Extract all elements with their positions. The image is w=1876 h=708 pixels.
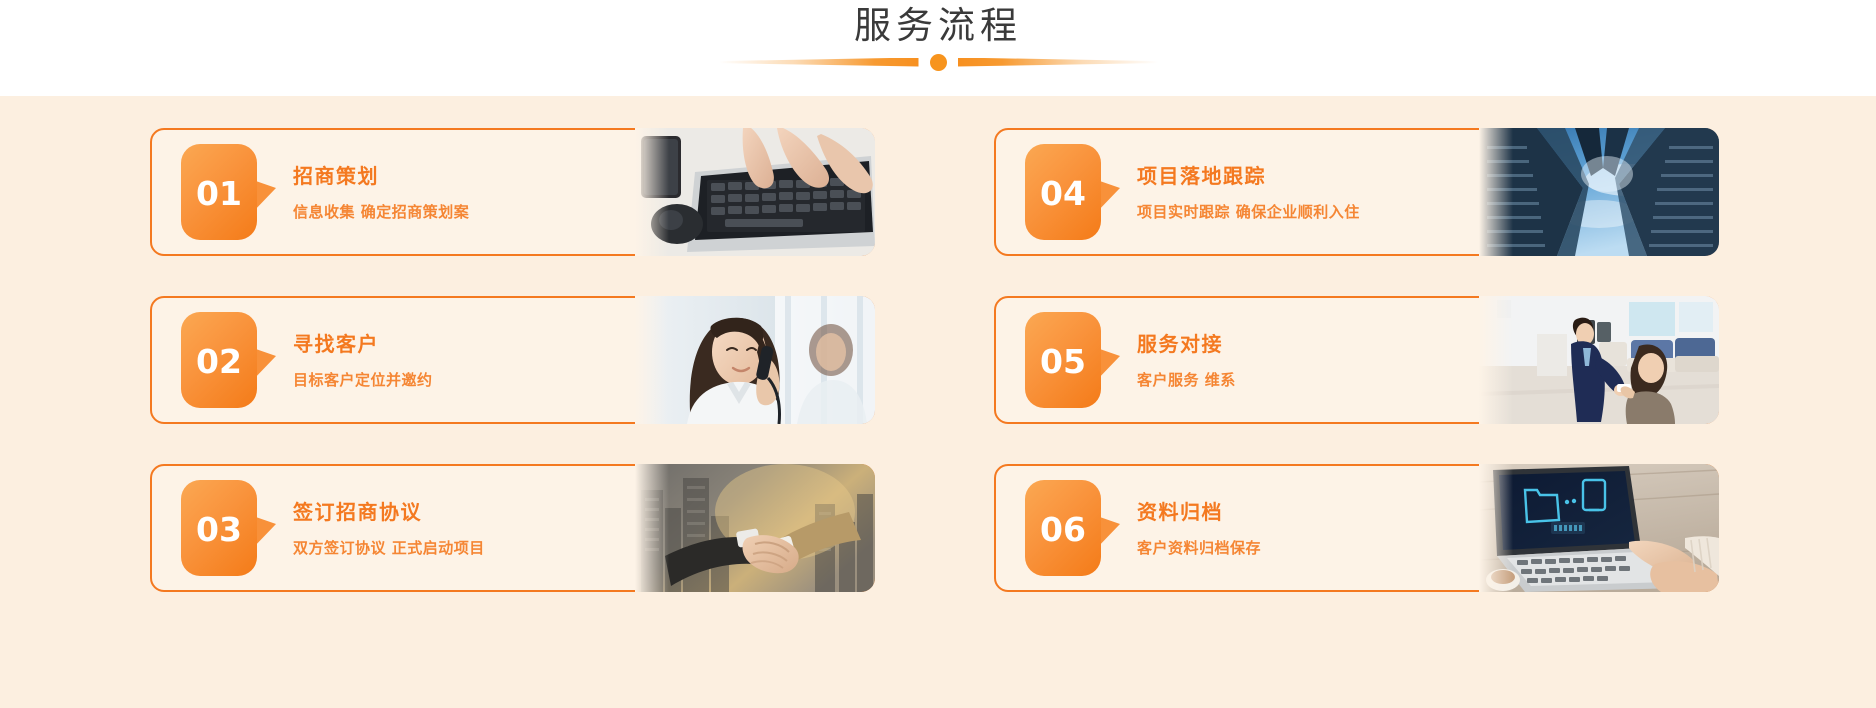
step-number-badge: 05 [1025, 312, 1101, 408]
divider-bar-right-icon [958, 58, 1158, 67]
step-card[interactable]: 02 寻找客户 目标客户定位并邀约 [150, 296, 875, 424]
step-number: 03 [196, 511, 242, 546]
step-title: 资料归档 [1137, 498, 1709, 526]
step-number-badge: 02 [181, 312, 257, 408]
badge-body: 05 [1025, 312, 1101, 408]
step-title: 招商策划 [293, 162, 865, 190]
step-number-badge: 01 [181, 144, 257, 240]
step-subtitle: 信息收集 确定招商策划案 [293, 202, 865, 222]
step-title: 签订招商协议 [293, 498, 865, 526]
step-title: 服务对接 [1137, 330, 1709, 358]
step-number: 01 [196, 175, 242, 210]
badge-body: 01 [181, 144, 257, 240]
badge-body: 04 [1025, 144, 1101, 240]
step-text-block: 项目落地跟踪 项目实时跟踪 确保企业顺利入住 [1101, 162, 1717, 222]
steps-panel: 01 招商策划 信息收集 确定招商策划案 [0, 96, 1876, 708]
steps-grid: 01 招商策划 信息收集 确定招商策划案 [0, 96, 1876, 708]
step-number-badge: 04 [1025, 144, 1101, 240]
step-number: 06 [1040, 511, 1086, 546]
step-title: 项目落地跟踪 [1137, 162, 1709, 190]
step-card[interactable]: 05 服务对接 客户服务 维系 [994, 296, 1719, 424]
step-subtitle: 双方签订协议 正式启动项目 [293, 538, 865, 558]
step-subtitle: 项目实时跟踪 确保企业顺利入住 [1137, 202, 1709, 222]
step-number: 02 [196, 343, 242, 378]
step-text-block: 资料归档 客户资料归档保存 [1101, 498, 1717, 558]
step-subtitle: 客户服务 维系 [1137, 370, 1709, 390]
divider-dot-icon [930, 54, 947, 71]
step-card[interactable]: 04 项目落地跟踪 项目实时跟踪 确保企业顺利入住 [994, 128, 1719, 256]
badge-body: 06 [1025, 480, 1101, 576]
badge-body: 02 [181, 312, 257, 408]
step-title: 寻找客户 [293, 330, 865, 358]
badge-body: 03 [181, 480, 257, 576]
step-subtitle: 客户资料归档保存 [1137, 538, 1709, 558]
step-text-block: 服务对接 客户服务 维系 [1101, 330, 1717, 390]
service-process-page: 服务流程 01 招商策划 信息收集 确定招商策划案 [0, 0, 1876, 708]
step-subtitle: 目标客户定位并邀约 [293, 370, 865, 390]
step-card[interactable]: 03 签订招商协议 双方签订协议 正式启动项目 [150, 464, 875, 592]
page-header: 服务流程 [0, 0, 1876, 96]
step-text-block: 寻找客户 目标客户定位并邀约 [257, 330, 873, 390]
step-number: 05 [1040, 343, 1086, 378]
title-divider-ornament [698, 52, 1178, 72]
step-text-block: 签订招商协议 双方签订协议 正式启动项目 [257, 498, 873, 558]
page-title: 服务流程 [0, 0, 1876, 54]
step-number-badge: 03 [181, 480, 257, 576]
step-card[interactable]: 06 资料归档 客户资料归档保存 [994, 464, 1719, 592]
divider-bar-left-icon [719, 58, 919, 67]
step-number-badge: 06 [1025, 480, 1101, 576]
step-number: 04 [1040, 175, 1086, 210]
step-card[interactable]: 01 招商策划 信息收集 确定招商策划案 [150, 128, 875, 256]
step-text-block: 招商策划 信息收集 确定招商策划案 [257, 162, 873, 222]
